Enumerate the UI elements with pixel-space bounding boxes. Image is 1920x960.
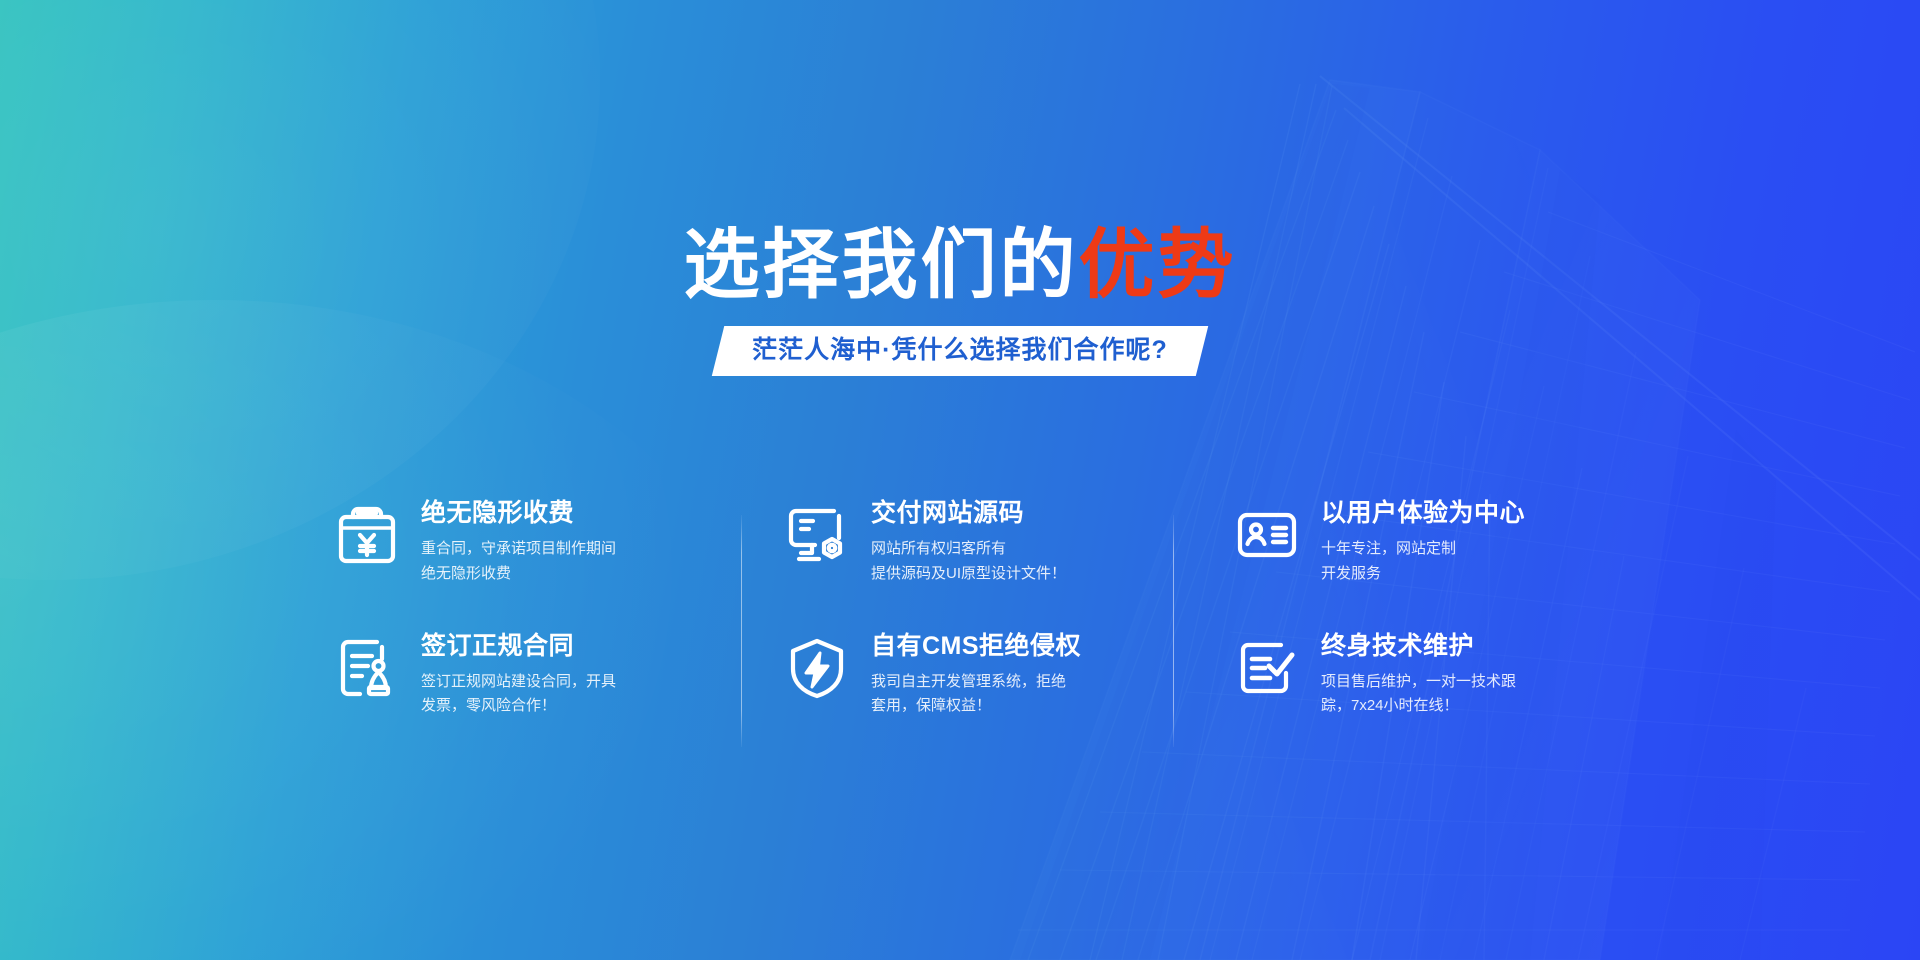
- banner-stage: 选择我们的优势 茫茫人海中·凭什么选择我们合作呢?: [0, 0, 1920, 960]
- feature-desc-line: 踪，7x24小时在线！: [1321, 694, 1516, 719]
- page-title-accent: 优势: [1079, 223, 1237, 308]
- feature-body: 签订正规合同 签订正规网站建设合同，开具 发票，零风险合作！: [421, 631, 616, 720]
- monitor-gear-icon: [785, 503, 849, 567]
- feature-title: 终身技术维护: [1321, 631, 1516, 661]
- feature-item-formal-contract[interactable]: 签订正规合同 签订正规网站建设合同，开具 发票，零风险合作！: [335, 631, 735, 720]
- feature-title: 绝无隐形收费: [421, 498, 616, 528]
- subtitle-ribbon-wrap: 茫茫人海中·凭什么选择我们合作呢?: [0, 326, 1920, 376]
- page-title-main: 选择我们的: [684, 223, 1079, 308]
- feature-desc-line: 套用，保障权益！: [871, 694, 1081, 719]
- feature-body: 交付网站源码 网站所有权归客所有 提供源码及UI原型设计文件！: [871, 498, 1066, 587]
- id-card-icon: [1235, 503, 1299, 567]
- feature-title: 以用户体验为中心: [1321, 498, 1525, 528]
- feature-item-lifetime-maintenance[interactable]: 终身技术维护 项目售后维护，一对一技术跟 踪，7x24小时在线！: [1235, 631, 1635, 720]
- document-person-icon: [335, 636, 399, 700]
- feature-title: 交付网站源码: [871, 498, 1066, 528]
- feature-desc: 我司自主开发管理系统，拒绝 套用，保障权益！: [871, 670, 1081, 720]
- feature-desc: 十年专注，网站定制 开发服务: [1321, 537, 1525, 587]
- feature-desc: 重合同，守承诺项目制作期间 绝无隐形收费: [421, 537, 616, 587]
- skyscraper-photo-shadow: [900, 0, 1920, 960]
- feature-desc: 项目售后维护，一对一技术跟 踪，7x24小时在线！: [1321, 670, 1516, 720]
- feature-desc-line: 开发服务: [1321, 562, 1525, 587]
- feature-body: 终身技术维护 项目售后维护，一对一技术跟 踪，7x24小时在线！: [1321, 631, 1516, 720]
- page-title: 选择我们的优势: [0, 228, 1920, 304]
- shield-bolt-icon: [785, 636, 849, 700]
- feature-desc-line: 签订正规网站建设合同，开具: [421, 670, 616, 695]
- feature-desc: 签订正规网站建设合同，开具 发票，零风险合作！: [421, 670, 616, 720]
- feature-item-own-cms[interactable]: 自有CMS拒绝侵权 我司自主开发管理系统，拒绝 套用，保障权益！: [785, 631, 1185, 720]
- feature-desc-line: 重合同，守承诺项目制作期间: [421, 537, 616, 562]
- heading-block: 选择我们的优势 茫茫人海中·凭什么选择我们合作呢?: [0, 228, 1920, 376]
- subtitle-text: 茫茫人海中·凭什么选择我们合作呢?: [752, 335, 1168, 366]
- feature-body: 绝无隐形收费 重合同，守承诺项目制作期间 绝无隐形收费: [421, 498, 616, 587]
- feature-desc-line: 网站所有权归客所有: [871, 537, 1066, 562]
- feature-desc-line: 提供源码及UI原型设计文件！: [871, 562, 1066, 587]
- feature-desc-line: 项目售后维护，一对一技术跟: [1321, 670, 1516, 695]
- feature-item-source-code[interactable]: 交付网站源码 网站所有权归客所有 提供源码及UI原型设计文件！: [785, 498, 1185, 587]
- checklist-check-icon: [1235, 636, 1299, 700]
- subtitle-ribbon: 茫茫人海中·凭什么选择我们合作呢?: [712, 326, 1208, 376]
- feature-body: 自有CMS拒绝侵权 我司自主开发管理系统，拒绝 套用，保障权益！: [871, 631, 1081, 720]
- feature-item-no-hidden-fees[interactable]: 绝无隐形收费 重合同，守承诺项目制作期间 绝无隐形收费: [335, 498, 735, 587]
- feature-title: 签订正规合同: [421, 631, 616, 661]
- feature-desc-line: 绝无隐形收费: [421, 562, 616, 587]
- feature-item-user-experience[interactable]: 以用户体验为中心 十年专注，网站定制 开发服务: [1235, 498, 1635, 587]
- feature-desc-line: 发票，零风险合作！: [421, 694, 616, 719]
- feature-desc-line: 我司自主开发管理系统，拒绝: [871, 670, 1081, 695]
- feature-desc: 网站所有权归客所有 提供源码及UI原型设计文件！: [871, 537, 1066, 587]
- feature-grid: 绝无隐形收费 重合同，守承诺项目制作期间 绝无隐形收费: [335, 498, 1635, 719]
- feature-body: 以用户体验为中心 十年专注，网站定制 开发服务: [1321, 498, 1525, 587]
- briefcase-yen-icon: [335, 503, 399, 567]
- feature-desc-line: 十年专注，网站定制: [1321, 537, 1525, 562]
- feature-title: 自有CMS拒绝侵权: [871, 631, 1081, 661]
- skyscraper-photo: [900, 0, 1920, 960]
